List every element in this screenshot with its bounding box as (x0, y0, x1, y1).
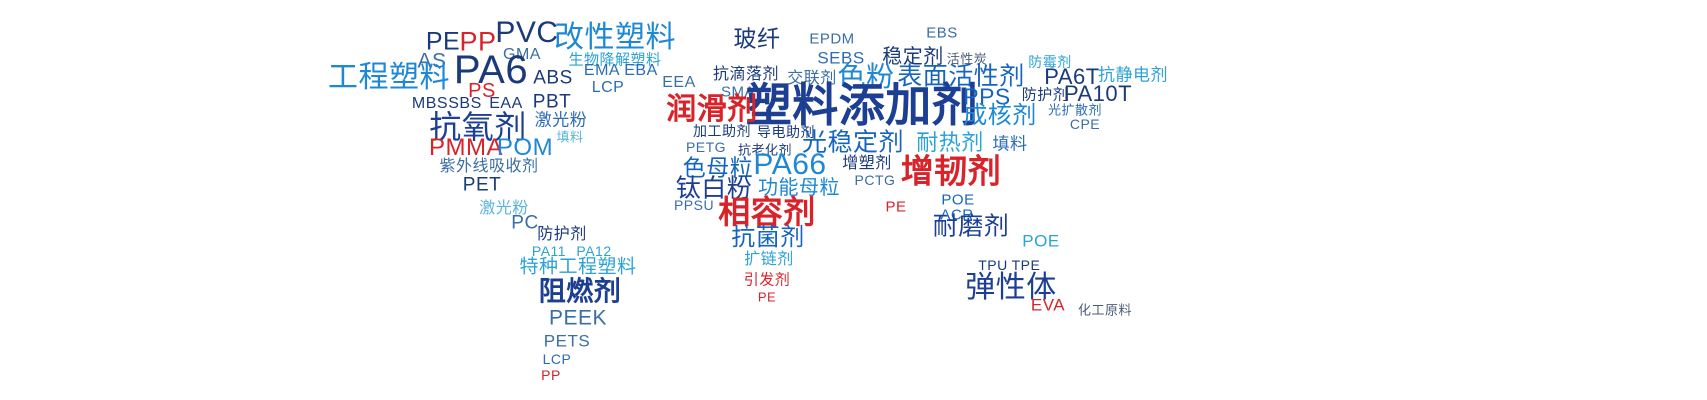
word-cloud-term[interactable]: TPE (1012, 258, 1041, 272)
word-cloud-term[interactable]: LCP (543, 352, 572, 366)
word-cloud-term[interactable]: PP (541, 368, 561, 382)
word-cloud-term[interactable]: 阻燃剂 (539, 279, 622, 306)
word-cloud-term[interactable]: 光扩散剂 (1048, 104, 1102, 117)
word-cloud-term[interactable]: PPSU (674, 198, 714, 212)
word-cloud-term[interactable]: EEA (662, 75, 696, 91)
word-cloud-term[interactable]: 塑料添加剂 (746, 82, 979, 128)
word-cloud-term[interactable]: 玻纤 (734, 28, 781, 51)
word-cloud-term[interactable]: 防护剂 (537, 227, 587, 243)
word-cloud-term[interactable]: EPDM (809, 32, 854, 47)
word-cloud-term[interactable]: PBT (533, 93, 571, 112)
word-cloud-term[interactable]: CPE (1070, 117, 1100, 131)
word-cloud-term[interactable]: EMA (584, 63, 620, 79)
word-cloud-term[interactable]: PC (511, 214, 538, 233)
word-cloud-term[interactable]: 改性塑料 (554, 23, 676, 53)
word-cloud-term[interactable]: ABS (533, 69, 573, 88)
word-cloud-term[interactable]: 抗菌剂 (731, 226, 805, 250)
word-cloud-term[interactable]: LCP (592, 80, 625, 96)
word-cloud-term[interactable]: POE (941, 193, 974, 208)
word-cloud-term[interactable]: PCTG (855, 173, 896, 187)
word-cloud-term[interactable]: PMMA (429, 136, 503, 160)
word-cloud-term[interactable]: 加工助剂 (693, 124, 751, 138)
word-cloud-term[interactable]: PETG (686, 140, 726, 154)
word-cloud-term[interactable]: PE (885, 200, 906, 215)
word-cloud-term[interactable]: 工程塑料 (328, 63, 450, 93)
word-cloud-term[interactable]: POE (1022, 233, 1059, 250)
word-cloud-term[interactable]: EVA (1031, 297, 1065, 314)
word-cloud-term[interactable]: 引发剂 (744, 273, 791, 288)
word-cloud-term[interactable]: 化工原料 (1078, 304, 1132, 317)
word-cloud-term[interactable]: 扩链剂 (744, 252, 794, 268)
word-cloud: PEPPPVCGMA改性塑料生物降解塑料ASPA6ABSEMAEBALCPEEA… (0, 0, 1707, 400)
word-cloud-term[interactable]: PVC (495, 18, 558, 48)
word-cloud-term[interactable]: PA66 (753, 150, 826, 180)
word-cloud-term[interactable]: 防护剂 (1022, 88, 1069, 103)
word-cloud-term[interactable]: TPU (978, 258, 1008, 272)
word-cloud-term[interactable]: 填料 (556, 131, 583, 144)
word-cloud-term[interactable]: 增韧剂 (901, 155, 1002, 188)
word-cloud-term[interactable]: 耐热剂 (916, 132, 984, 154)
word-cloud-term[interactable]: EBA (624, 63, 658, 79)
word-cloud-term[interactable]: PET (463, 176, 501, 195)
word-cloud-term[interactable]: 增塑剂 (842, 156, 892, 172)
word-cloud-term[interactable]: 耐磨剂 (933, 215, 1010, 240)
word-cloud-term[interactable]: 润滑剂 (666, 95, 758, 125)
word-cloud-term[interactable]: PEEK (549, 308, 607, 329)
word-cloud-term[interactable]: POM (497, 136, 553, 160)
word-cloud-term[interactable]: EBS (926, 26, 958, 41)
word-cloud-term[interactable]: 成核剂 (963, 104, 1037, 128)
word-cloud-term[interactable]: PETS (544, 333, 590, 350)
word-cloud-term[interactable]: 填料 (993, 136, 1028, 153)
word-cloud-term[interactable]: PE (758, 291, 776, 304)
word-cloud-term[interactable]: 特种工程塑料 (519, 258, 636, 277)
word-cloud-term[interactable]: 紫外线吸收剂 (439, 159, 538, 175)
word-cloud-term[interactable]: 激光粉 (535, 112, 588, 129)
